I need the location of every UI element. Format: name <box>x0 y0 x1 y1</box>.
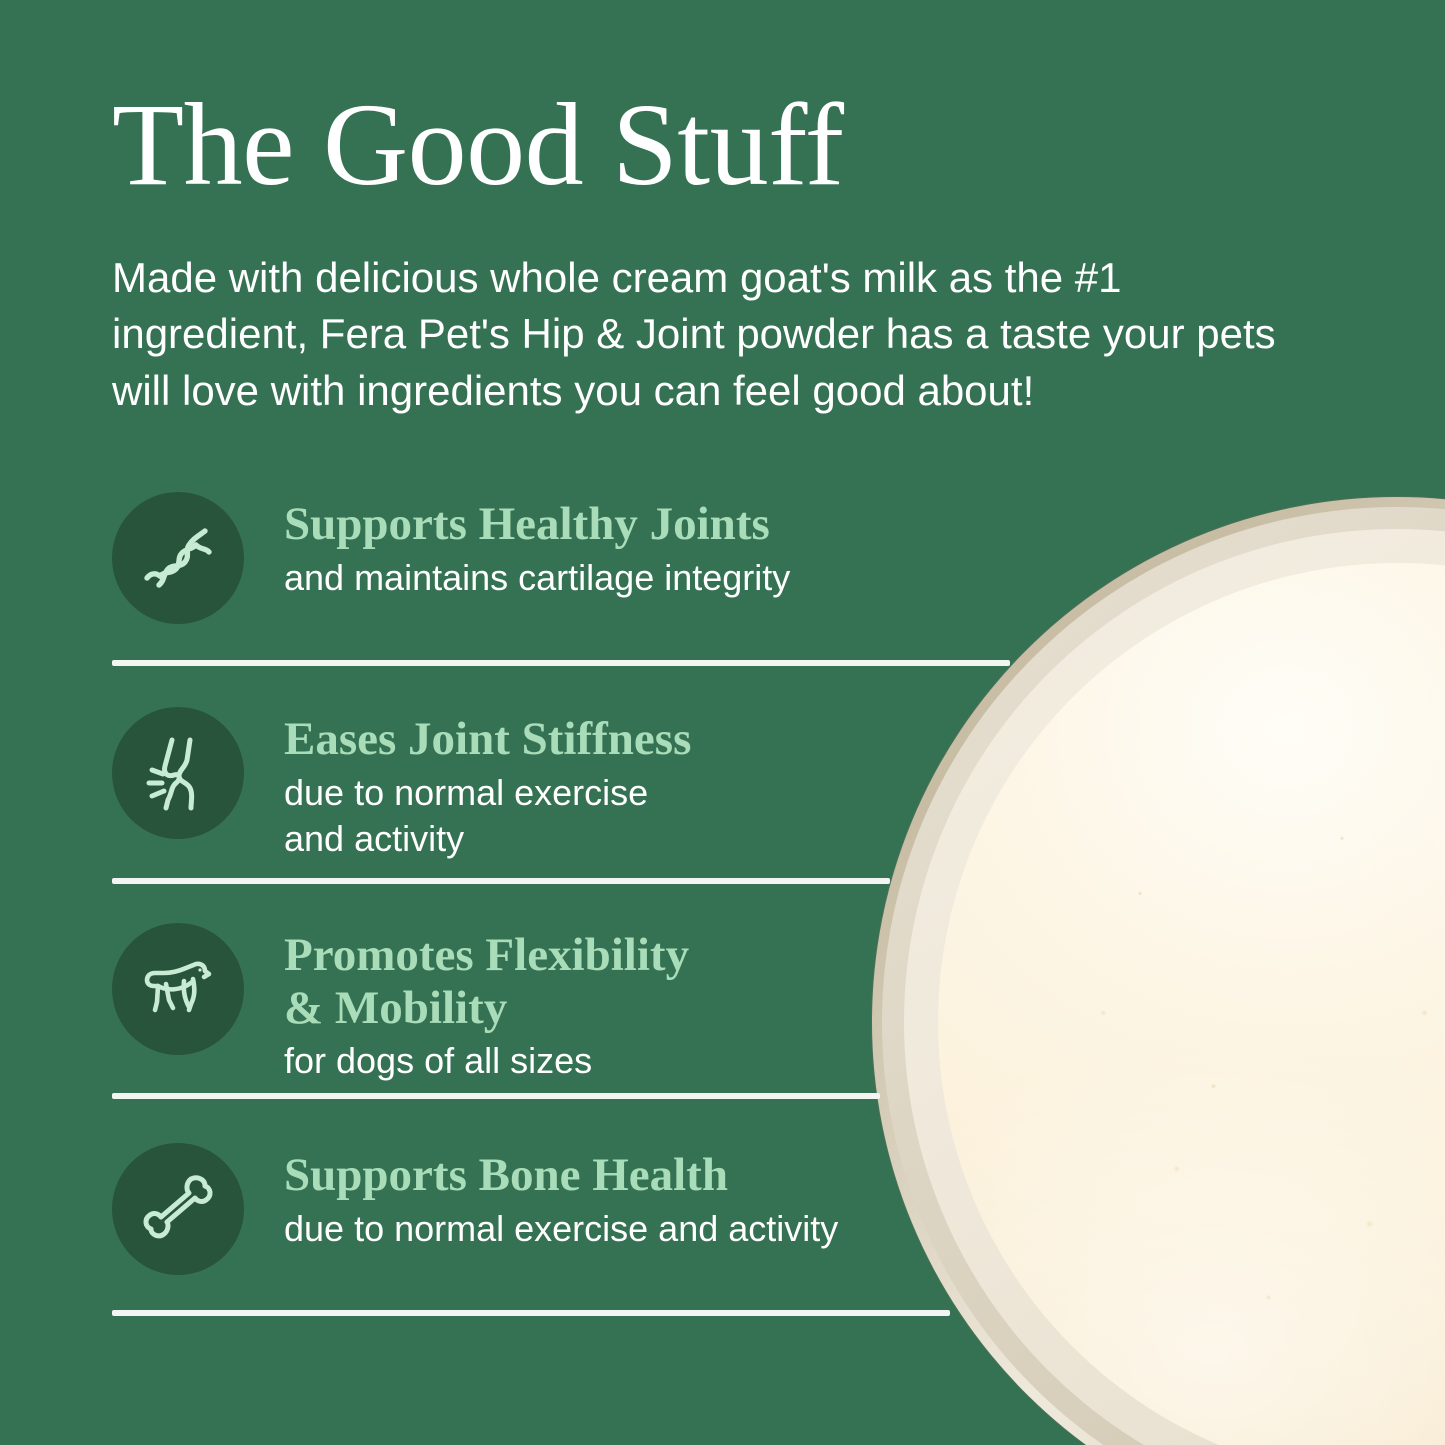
dog-bone-icon <box>112 1143 244 1275</box>
jar-rim-outer <box>872 497 1445 1445</box>
benefit-subtitle: and maintains cartilage integrity <box>284 555 790 601</box>
jar-powder-surface <box>938 563 1445 1445</box>
benefit-row-bone-health: Supports Bone Health due to normal exerc… <box>112 1143 838 1275</box>
benefit-divider-1 <box>112 660 1010 666</box>
page-description: Made with delicious whole cream goat's m… <box>112 250 1297 419</box>
infographic-canvas: The Good Stuff Made with delicious whole… <box>0 0 1445 1445</box>
benefit-title: Supports Healthy Joints <box>284 498 790 551</box>
knee-joint-pain-icon <box>112 707 244 839</box>
benefit-row-healthy-joints: Supports Healthy Joints and maintains ca… <box>112 492 790 624</box>
benefit-text-block: Supports Bone Health due to normal exerc… <box>284 1143 838 1252</box>
benefit-divider-2 <box>112 878 890 884</box>
benefit-title: Eases Joint Stiffness <box>284 713 691 766</box>
benefit-title: Promotes Flexibility & Mobility <box>284 929 689 1034</box>
benefit-subtitle: due to normal exercise and activity <box>284 1206 838 1252</box>
benefit-subtitle: for dogs of all sizes <box>284 1038 689 1084</box>
benefit-divider-3 <box>112 1093 880 1099</box>
product-jar-image <box>872 497 1445 1445</box>
benefit-text-block: Supports Healthy Joints and maintains ca… <box>284 492 790 601</box>
benefit-divider-4 <box>112 1310 950 1316</box>
benefit-text-block: Promotes Flexibility & Mobility for dogs… <box>284 923 689 1084</box>
jar-inner-wall <box>904 529 1445 1445</box>
jar-rim-inner <box>882 507 1445 1445</box>
benefit-subtitle: due to normal exercise and activity <box>284 770 691 862</box>
benefit-text-block: Eases Joint Stiffness due to normal exer… <box>284 707 691 862</box>
benefit-row-joint-stiffness: Eases Joint Stiffness due to normal exer… <box>112 707 691 862</box>
benefit-title: Supports Bone Health <box>284 1149 838 1202</box>
benefit-row-flexibility-mobility: Promotes Flexibility & Mobility for dogs… <box>112 923 689 1084</box>
joint-cartilage-icon <box>112 492 244 624</box>
page-title: The Good Stuff <box>112 86 844 204</box>
dog-icon <box>112 923 244 1055</box>
